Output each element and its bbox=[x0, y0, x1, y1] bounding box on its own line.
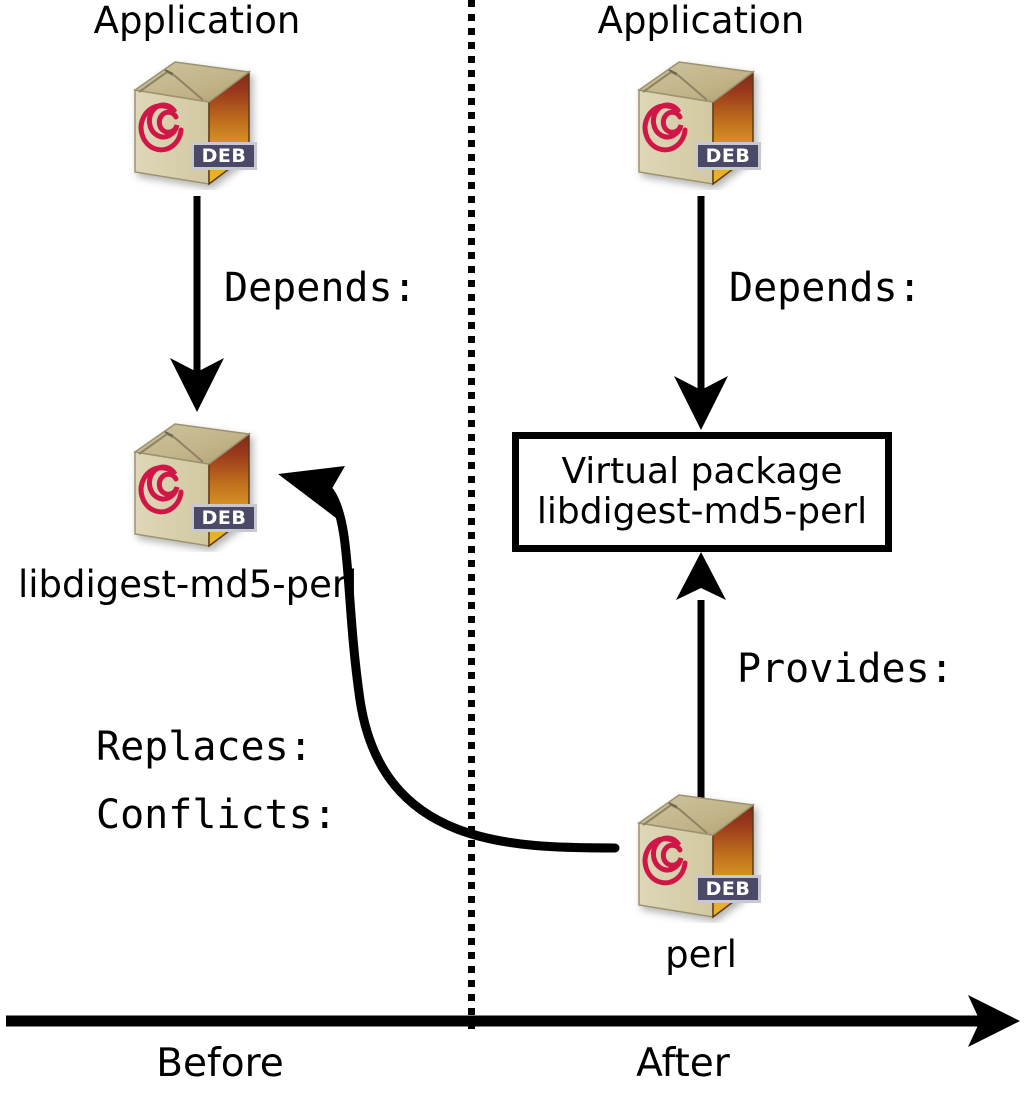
diagram-canvas: Application DEB Depends: bbox=[0, 0, 1024, 1094]
deb-badge: DEB bbox=[191, 142, 257, 170]
package-icon-application-before: DEB bbox=[117, 50, 277, 190]
svg-text:DEB: DEB bbox=[706, 878, 751, 900]
provides-label: Provides: bbox=[737, 648, 954, 690]
svg-text:DEB: DEB bbox=[202, 507, 247, 529]
timeline-label-before: Before bbox=[156, 1044, 284, 1085]
conflicts-label: Conflicts: bbox=[96, 794, 337, 836]
deb-badge: DEB bbox=[695, 142, 761, 170]
package-icon-perl: DEB bbox=[621, 783, 781, 923]
deb-badge: DEB bbox=[695, 875, 761, 903]
timeline-label-after: After bbox=[636, 1044, 730, 1085]
application-label-after: Application bbox=[598, 2, 805, 41]
virtual-package-line1: Virtual package bbox=[561, 452, 842, 492]
provides-arrow bbox=[676, 552, 726, 800]
application-label-before: Application bbox=[94, 2, 301, 41]
perl-package-label: perl bbox=[665, 936, 737, 975]
libdigest-md5-perl-label: libdigest-md5-perl bbox=[18, 566, 357, 605]
before-after-divider bbox=[468, 0, 475, 1030]
depends-arrow-before bbox=[170, 196, 224, 412]
depends-label-before: Depends: bbox=[224, 267, 417, 309]
svg-text:DEB: DEB bbox=[202, 145, 247, 167]
virtual-package-line2: libdigest-md5-perl bbox=[537, 492, 867, 532]
depends-arrow-after bbox=[674, 196, 728, 430]
timeline-axis bbox=[6, 995, 1020, 1047]
package-icon-libdigest-md5-perl: DEB bbox=[117, 412, 277, 552]
replaces-label: Replaces: bbox=[96, 726, 313, 768]
deb-badge: DEB bbox=[191, 504, 257, 532]
depends-label-after: Depends: bbox=[729, 267, 922, 309]
svg-text:DEB: DEB bbox=[706, 145, 751, 167]
package-icon-application-after: DEB bbox=[621, 50, 781, 190]
virtual-package-box: Virtual package libdigest-md5-perl bbox=[512, 432, 892, 552]
